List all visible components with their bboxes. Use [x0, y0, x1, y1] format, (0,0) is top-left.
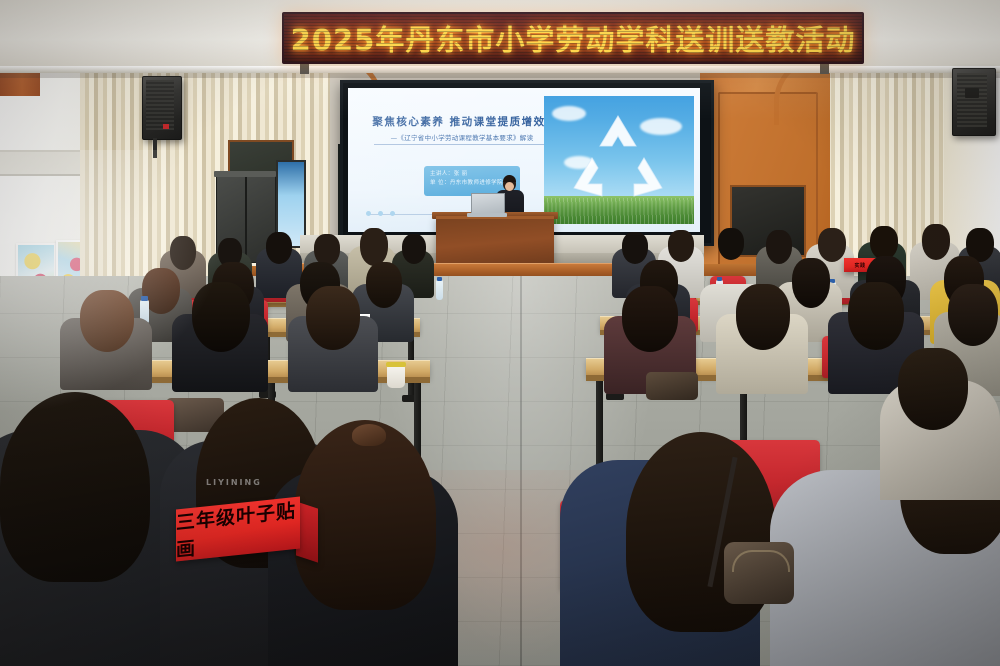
lecture-hall-photo: 2025年丹东市小学劳动学科送训送教活动 聚焦核心素养 推动课堂提质增效 —《辽… [0, 0, 1000, 666]
photo-vignette [0, 0, 1000, 666]
